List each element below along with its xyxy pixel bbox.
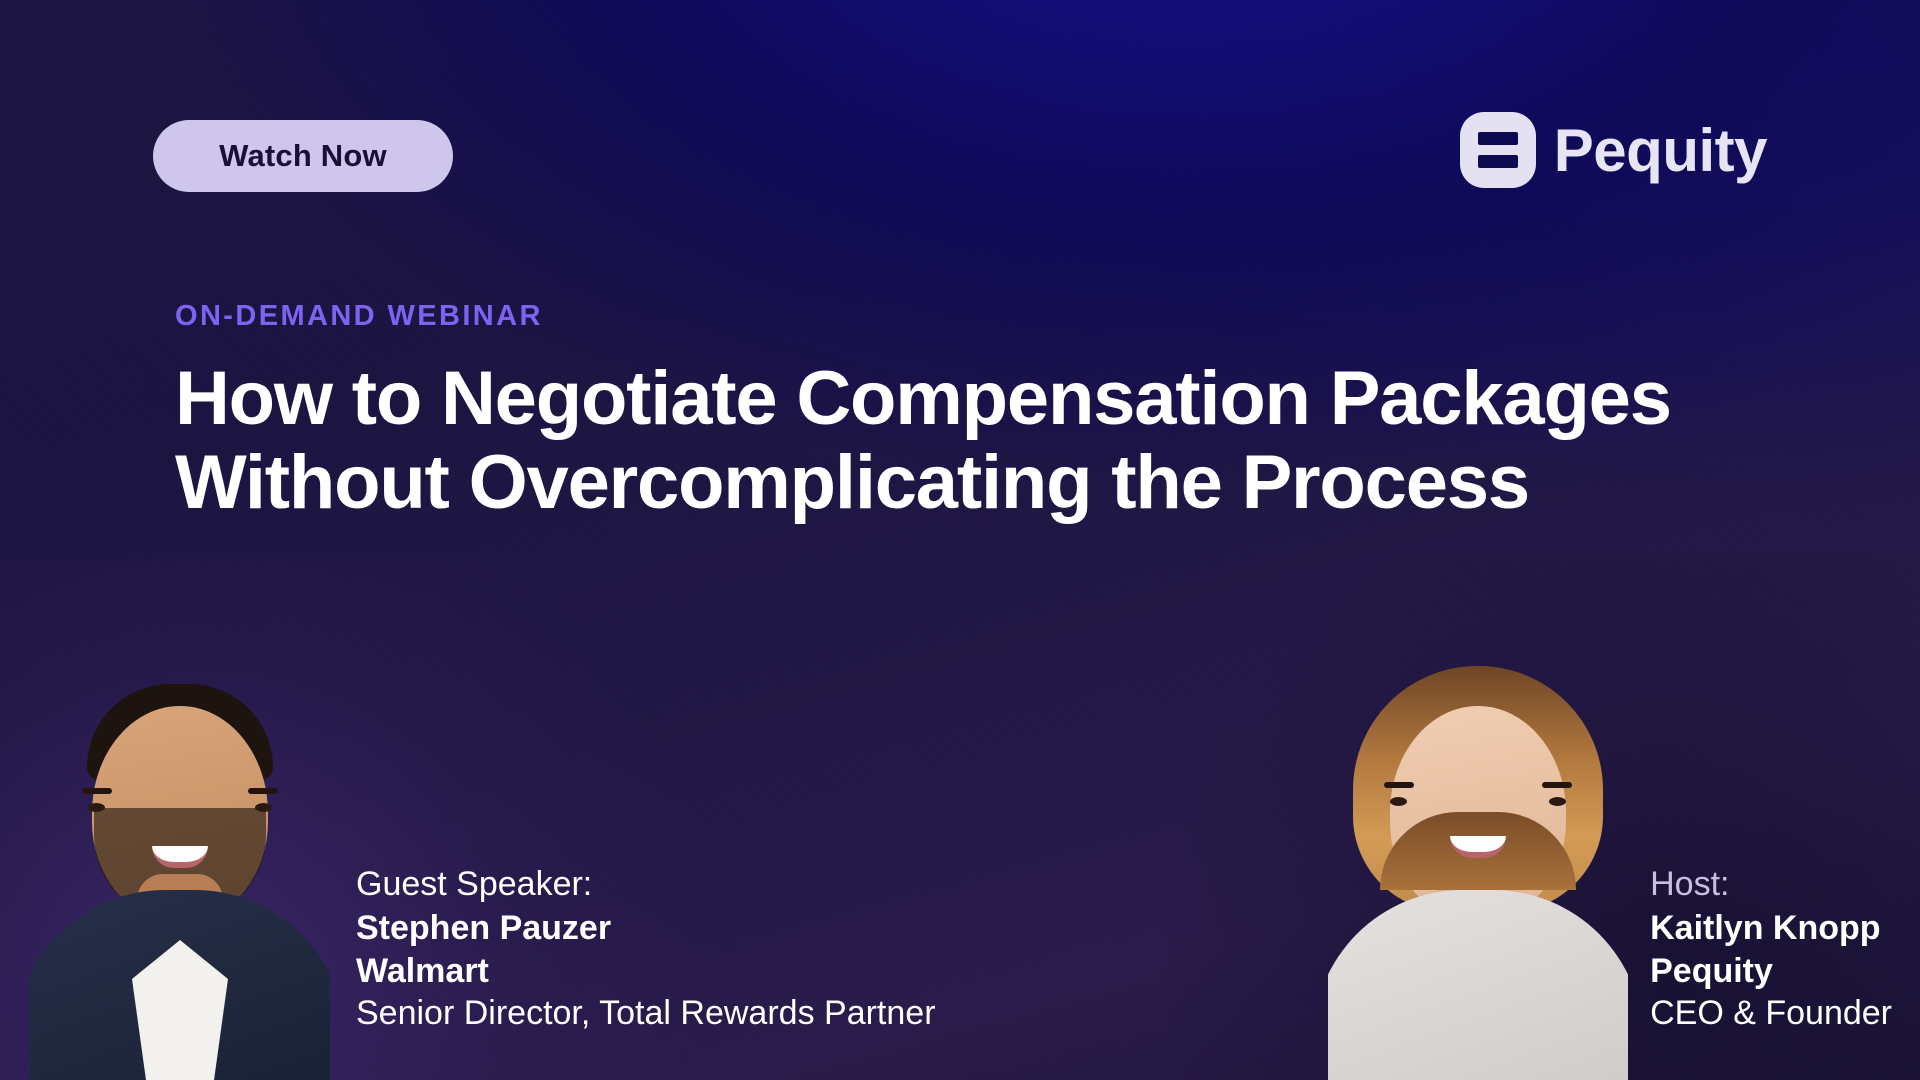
guest-job-title: Senior Director, Total Rewards Partner: [356, 992, 936, 1036]
hero-text-block: ON-DEMAND WEBINAR How to Negotiate Compe…: [175, 300, 1815, 524]
host-company: Pequity: [1650, 950, 1892, 993]
host-card: Host: Kaitlyn Knopp Pequity CEO & Founde…: [1328, 660, 1892, 1080]
guest-company: Walmart: [356, 950, 936, 993]
eye-left: [88, 803, 105, 812]
speaker-headshot-photo: [30, 660, 330, 1080]
brow-right: [248, 788, 278, 794]
guest-role-label: Guest Speaker:: [356, 863, 936, 907]
brow-left: [82, 788, 112, 794]
eye-right: [1549, 797, 1566, 806]
speakers-row: Guest Speaker: Stephen Pauzer Walmart Se…: [0, 660, 1920, 1080]
eyebrow-label: ON-DEMAND WEBINAR: [175, 300, 1815, 333]
brow-left: [1384, 782, 1414, 788]
equals-sign-rounded-square-icon: [1460, 112, 1536, 188]
guest-name: Stephen Pauzer: [356, 907, 936, 950]
watch-now-label: Watch Now: [219, 138, 387, 174]
host-name: Kaitlyn Knopp: [1650, 907, 1892, 950]
host-headshot-photo: [1328, 660, 1628, 1080]
guest-speaker-details: Guest Speaker: Stephen Pauzer Walmart Se…: [356, 863, 936, 1080]
equals-bar-top: [1478, 132, 1518, 145]
eye-right: [255, 803, 272, 812]
host-job-title: CEO & Founder: [1650, 992, 1892, 1036]
page-title: How to Negotiate Compensation Packages W…: [175, 357, 1785, 524]
watch-now-button[interactable]: Watch Now: [153, 120, 453, 192]
guest-speaker-card: Guest Speaker: Stephen Pauzer Walmart Se…: [30, 660, 936, 1080]
pequity-logo[interactable]: Pequity: [1460, 112, 1767, 188]
sweater-shape: [1328, 890, 1628, 1080]
equals-bar-bottom: [1478, 155, 1518, 168]
brand-wordmark: Pequity: [1554, 116, 1767, 185]
brow-right: [1542, 782, 1572, 788]
host-role-label: Host:: [1650, 863, 1892, 907]
eye-left: [1390, 797, 1407, 806]
webinar-promo-banner: Watch Now Pequity ON-DEMAND WEBINAR How …: [0, 0, 1920, 1080]
host-details: Host: Kaitlyn Knopp Pequity CEO & Founde…: [1650, 863, 1892, 1080]
